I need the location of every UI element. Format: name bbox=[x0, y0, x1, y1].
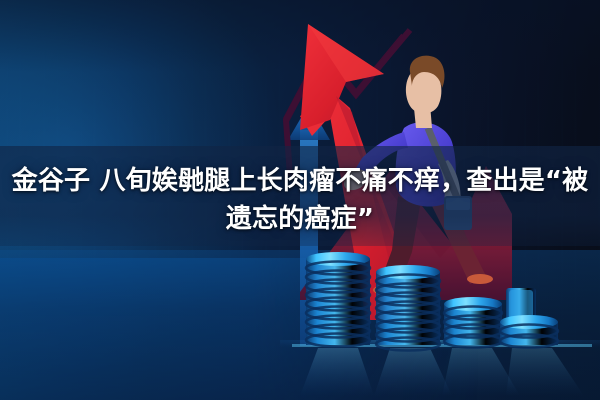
coin-stack-1 bbox=[306, 252, 370, 347]
page-title: 金谷子 八旬娭毑腿上长肉瘤不痛不痒，查出是“被遗忘的癌症” bbox=[0, 162, 600, 238]
coin-stack-2 bbox=[376, 265, 440, 351]
floor-reflection bbox=[280, 340, 600, 396]
coin-stack-4 bbox=[500, 288, 558, 348]
coin-stack-3 bbox=[444, 297, 502, 348]
banner-image: 金谷子 八旬娭毑腿上长肉瘤不痛不痒，查出是“被遗忘的癌症” bbox=[0, 0, 600, 400]
